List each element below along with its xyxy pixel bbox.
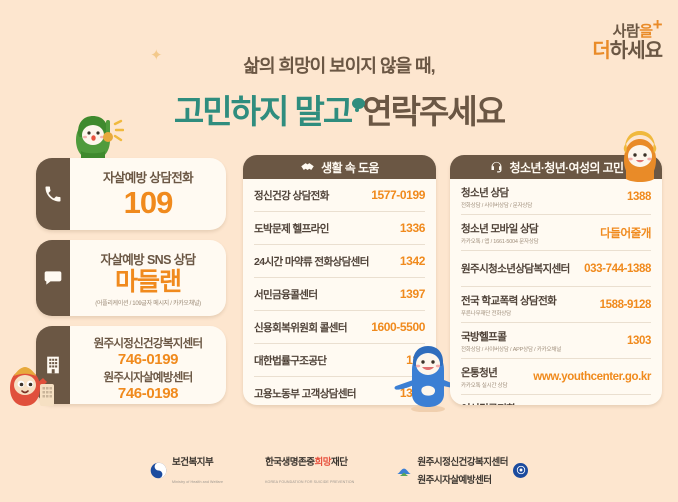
- yellow-mascot: [612, 126, 668, 184]
- center-number-2: 746-0198: [78, 385, 218, 403]
- footer-logos: 보건복지부 Ministry of Health and Welfare 한국생…: [0, 452, 678, 488]
- item-sublabel: 카카오톡 / 앱 / 1661-5004 문자상담: [461, 237, 539, 245]
- item-label: 24시간 마약류 전화상담센터: [254, 254, 369, 269]
- logo-ko-part-a: 한국생명존중: [265, 457, 314, 468]
- item-label-text: 전국 학교폭력 상담전화: [461, 295, 556, 307]
- list-item[interactable]: 전국 학교폭력 상담전화푸른나무재단 전화상담 1588-9128: [461, 287, 651, 323]
- center-label-1: 원주시정신건강복지센터: [78, 335, 218, 351]
- item-label-text: 여성긴급전화: [461, 403, 515, 406]
- list-item[interactable]: 서민금융콜센터1397: [254, 278, 425, 311]
- card-header-title: 생활 속 도움: [321, 159, 379, 176]
- item-label: 원주시청소년상담복지센터: [461, 261, 570, 276]
- item-label: 온통청년카카오톡 실시간 상담: [461, 365, 507, 389]
- logo-wonju: 원주시정신건강복지센터 원주시자살예방센터: [396, 452, 528, 488]
- center-label-2: 원주시자살예방센터: [78, 369, 218, 385]
- wonju-icon: [396, 463, 412, 477]
- center-number-1: 746-0199: [78, 351, 218, 369]
- item-value: 1388: [621, 191, 651, 203]
- item-label: 고용노동부 고객상담센터: [254, 386, 356, 401]
- item-label: 국방헬프콜전화상담 / 사이버상담 / APP상담 / 카카오채널: [461, 329, 561, 353]
- card-number: 마들랜: [78, 269, 218, 296]
- item-value: 1588-9128: [594, 299, 651, 311]
- list-item[interactable]: 국방헬프콜전화상담 / 사이버상담 / APP상담 / 카카오채널 1303: [461, 323, 651, 359]
- logo-mohw: 보건복지부 Ministry of Health and Welfare: [150, 452, 223, 488]
- card-body: 자살예방 상담전화 109: [70, 158, 226, 230]
- logo-text: 한국생명존중희망재단 KOREA FOUNDATION FOR SUICIDE …: [265, 452, 354, 488]
- item-value: 다들어줄개: [594, 225, 651, 241]
- headset-icon: [489, 160, 504, 175]
- item-value: 1397: [394, 287, 425, 301]
- card-title: 자살예방 SNS 상담: [78, 249, 218, 268]
- item-value: 1577-0199: [365, 188, 425, 202]
- item-label-text: 국방헬프콜: [461, 331, 506, 343]
- logo-name-ko-2: 원주시자살예방센터: [417, 475, 491, 486]
- item-sublabel: 푸른나무재단 전화상담: [461, 309, 556, 317]
- item-value: 1303: [621, 335, 651, 347]
- card-body: 원주시정신건강복지센터 746-0199 원주시자살예방센터 746-0198: [70, 326, 226, 413]
- list-item[interactable]: 온통청년카카오톡 실시간 상담 www.youthcenter.go.kr: [461, 359, 651, 395]
- item-value: 1336: [394, 221, 425, 235]
- handshake-icon: [300, 160, 315, 175]
- headline-subtitle: 삶의 희망이 보이지 않을 때,: [0, 52, 678, 78]
- item-label: 청소년 모바일 상담카카오톡 / 앱 / 1661-5004 문자상담: [461, 221, 539, 245]
- logo-kfsp: 한국생명존중희망재단 KOREA FOUNDATION FOR SUICIDE …: [265, 452, 354, 488]
- chat-icon: [43, 268, 63, 288]
- card-header-title: 청소년·청년·여성의 고민: [510, 159, 624, 176]
- list-item[interactable]: 도박문제 헬프라인1336: [254, 212, 425, 245]
- list-item[interactable]: 원주시청소년상담복지센터 033-744-1388: [461, 251, 651, 287]
- logo-ko-part-b: 재단: [331, 457, 347, 468]
- card-youth-help[interactable]: 청소년·청년·여성의 고민 청소년 상담전화상담 / 사이버상담 / 문자상담 …: [450, 155, 662, 405]
- list-item[interactable]: 여성긴급전화24시간 전화상담 / 사이버상담 1366: [461, 395, 651, 405]
- blue-mascot: [392, 330, 458, 412]
- item-value-link[interactable]: www.youthcenter.go.kr: [527, 371, 651, 383]
- taegeuk-icon: [150, 462, 167, 479]
- hope-icon: 희망: [315, 457, 331, 468]
- youth-help-list: 청소년 상담전화상담 / 사이버상담 / 문자상담 1388 청소년 모바일 상…: [450, 179, 662, 405]
- list-item[interactable]: 청소년 상담전화상담 / 사이버상담 / 문자상담 1388: [461, 179, 651, 215]
- item-label: 도박문제 헬프라인: [254, 221, 329, 236]
- sparkle-icon: ✦: [150, 46, 163, 64]
- plus-icon: +: [653, 15, 662, 34]
- item-sublabel: 카카오톡 실시간 상담: [461, 381, 507, 389]
- logo-name-en: Ministry of Health and Welfare: [172, 480, 223, 484]
- item-label-text: 원주시청소년상담복지센터: [461, 263, 570, 275]
- seal-icon: [513, 463, 528, 478]
- list-item[interactable]: 청소년 모바일 상담카카오톡 / 앱 / 1661-5004 문자상담 다들어줄…: [461, 215, 651, 251]
- item-sublabel: 전화상담 / 사이버상담 / APP상담 / 카카오채널: [461, 345, 561, 353]
- card-number: 109: [78, 187, 218, 220]
- logo-name-en: KOREA FOUNDATION FOR SUICIDE PREVENTION: [265, 480, 354, 484]
- logo-name-ko-1: 원주시정신건강복지센터: [417, 457, 508, 468]
- item-label: 서민금융콜센터: [254, 287, 317, 302]
- card-sns-counseling[interactable]: 자살예방 SNS 상담 마들랜 (어플리케이션 / 109글자 메시지 / 카카…: [36, 240, 226, 316]
- card-icon-tab: [36, 240, 70, 316]
- list-item[interactable]: 정신건강 상담전화1577-0199: [254, 179, 425, 212]
- item-label-text: 온통청년: [461, 367, 497, 379]
- card-note: (어플리케이션 / 109글자 메시지 / 카카오채널): [78, 298, 218, 307]
- item-label-text: 청소년 모바일 상담: [461, 223, 538, 235]
- infographic-poster: 사람을+ 더하세요 삶의 희망이 보이지 않을 때, 고민하지 말고연락주세요 …: [0, 0, 678, 502]
- brand-text-eul: 을: [639, 23, 652, 40]
- logo-name-ko: 보건복지부: [172, 457, 213, 468]
- logo-text: 원주시정신건강복지센터 원주시자살예방센터: [417, 452, 508, 488]
- item-label: 대한법률구조공단: [254, 353, 326, 368]
- list-item[interactable]: 24시간 마약류 전화상담센터1342: [254, 245, 425, 278]
- item-label: 정신건강 상담전화: [254, 188, 329, 203]
- item-label: 청소년 상담전화상담 / 사이버상담 / 문자상담: [461, 185, 532, 209]
- item-label: 여성긴급전화24시간 전화상담 / 사이버상담: [461, 401, 526, 406]
- phone-icon: [43, 184, 63, 204]
- brand-text-saram: 사람: [613, 23, 640, 40]
- red-mascot: [0, 354, 56, 410]
- card-wonju-centers[interactable]: 원주시정신건강복지센터 746-0199 원주시자살예방센터 746-0198: [36, 326, 226, 404]
- card-suicide-hotline[interactable]: 자살예방 상담전화 109: [36, 158, 226, 230]
- headline-green-text: 고민하지 말고: [174, 93, 351, 130]
- item-label: 신용회복위원회 콜센터: [254, 320, 347, 335]
- brand-line-1: 사람을+: [592, 16, 662, 39]
- headline-brown-text: 연락주세요: [362, 93, 504, 130]
- green-mascot: [62, 104, 124, 166]
- item-value: 1342: [394, 254, 425, 268]
- card-header: 생활 속 도움: [243, 155, 436, 179]
- card-body: 자살예방 SNS 상담 마들랜 (어플리케이션 / 109글자 메시지 / 카카…: [70, 240, 226, 317]
- card-title: 자살예방 상담전화: [78, 167, 218, 186]
- item-value: 033-744-1388: [578, 263, 651, 275]
- item-label-text: 청소년 상담: [461, 187, 509, 199]
- card-icon-tab: [36, 158, 70, 230]
- logo-text: 보건복지부 Ministry of Health and Welfare: [172, 452, 223, 488]
- item-label: 전국 학교폭력 상담전화푸른나무재단 전화상담: [461, 293, 556, 317]
- logo-name-ko: 한국생명존중희망재단: [265, 457, 347, 468]
- item-sublabel: 전화상담 / 사이버상담 / 문자상담: [461, 201, 532, 209]
